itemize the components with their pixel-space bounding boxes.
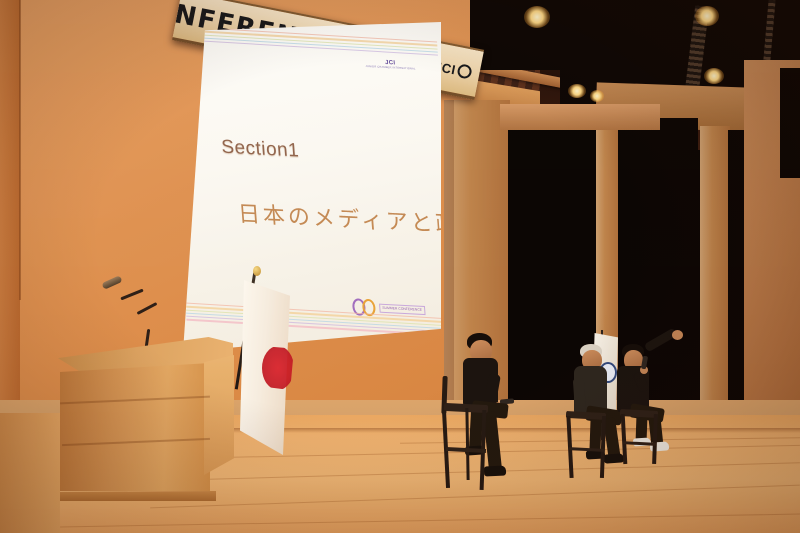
- speaker-left-shoe-front: [484, 465, 506, 476]
- spotlight-4: [568, 84, 586, 98]
- japan-flag-sun-icon: [262, 346, 294, 390]
- speaker-center-shoe-front: [604, 453, 625, 463]
- slide-section-label: Section1: [220, 137, 299, 163]
- slide-content: JCI JUNIOR CHAMBER INTERNATIONAL Section…: [180, 8, 445, 366]
- projection-screen-surface: JCI JUNIOR CHAMBER INTERNATIONAL Section…: [183, 22, 441, 352]
- summer-conference-logo-text: SUMMER CONFERENCE: [379, 304, 425, 315]
- podium-base-molding: [58, 491, 216, 501]
- spotlight-2: [695, 6, 719, 26]
- slide-stripes-top: [190, 26, 439, 63]
- projection-screen: JCI JUNIOR CHAMBER INTERNATIONAL Section…: [183, 22, 441, 352]
- stage-soffit: [500, 104, 660, 130]
- stage-wall-right-recess: [780, 68, 800, 178]
- japan-flag-finial-icon: [253, 266, 261, 276]
- podium: [58, 337, 233, 497]
- spotlight-3: [704, 68, 724, 84]
- stage-apron-left: [0, 413, 60, 533]
- podium-front-face: [60, 363, 210, 491]
- stage-wall-seam: [19, 0, 21, 300]
- stage-pillar-right-inner: [700, 126, 730, 436]
- jci-logo-slide: JCI JUNIOR CHAMBER INTERNATIONAL: [365, 59, 416, 71]
- jci-ring-icon: [456, 63, 472, 79]
- jci-logo-slide-subtext: JUNIOR CHAMBER INTERNATIONAL: [365, 65, 415, 71]
- spotlight-5: [590, 90, 604, 102]
- spotlight-1: [524, 6, 550, 28]
- podium-side-panel: [204, 355, 234, 475]
- speaker-right-hand-raised: [672, 330, 683, 340]
- stage-wall-left-panel: [0, 0, 20, 430]
- conference-stage-photo: UMMER CONFERENCE 2017 JCI JCI JUNIOR CHA…: [0, 0, 800, 533]
